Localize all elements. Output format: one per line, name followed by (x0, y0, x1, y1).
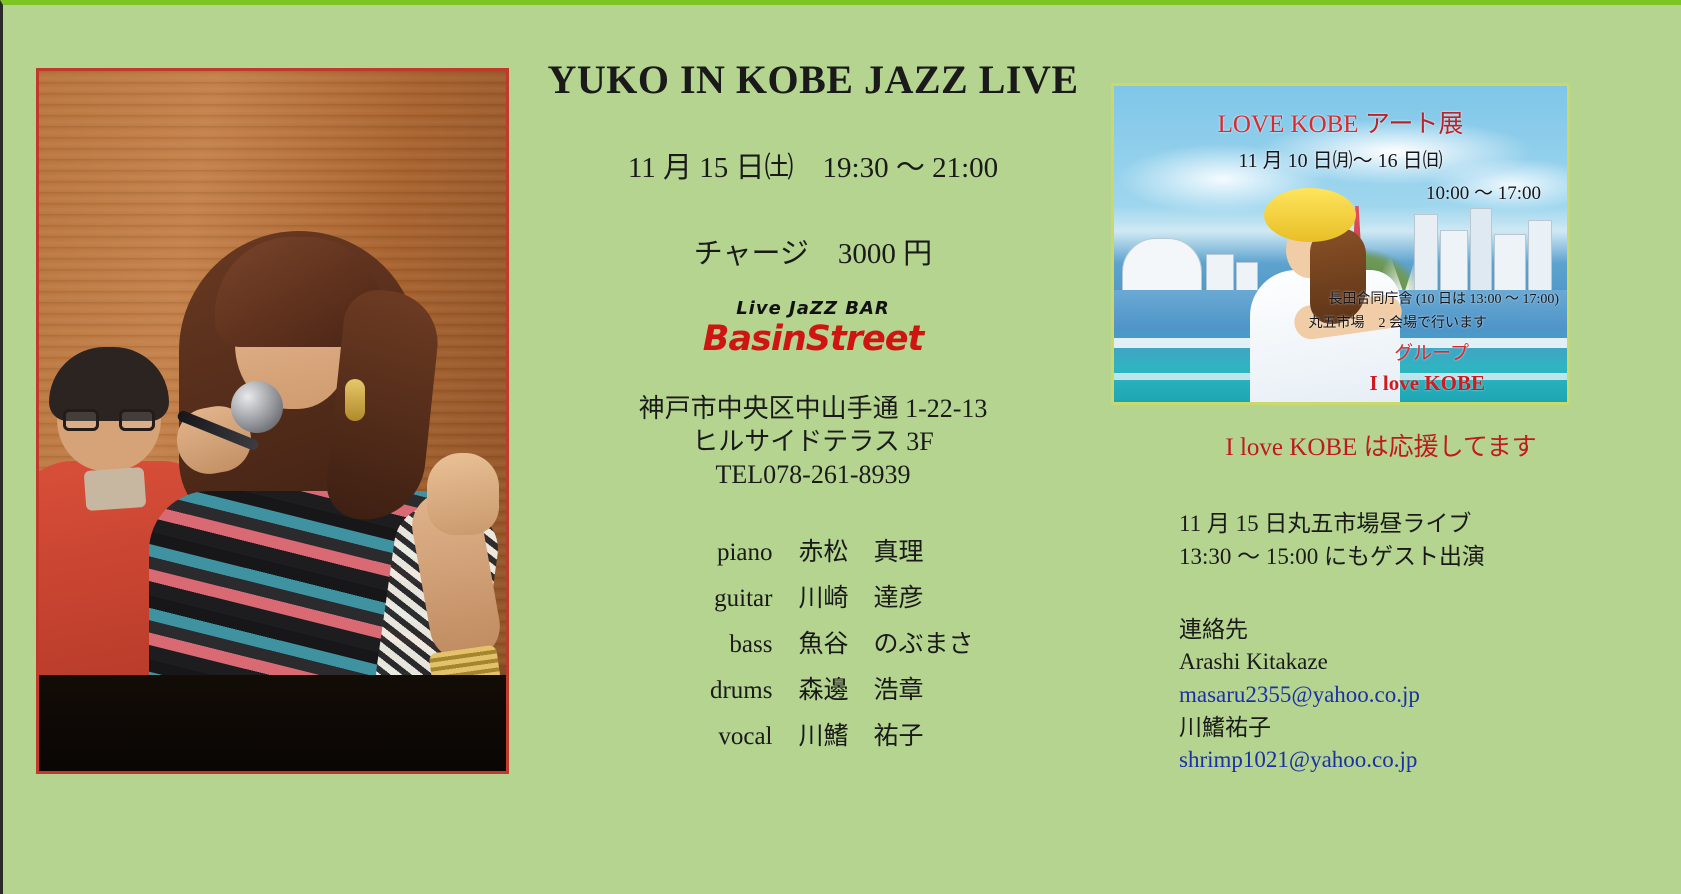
poster-canvas: YUKO IN KOBE JAZZ LIVE 11 月 15 日㈯ 19:30 … (0, 0, 1681, 894)
singer-hand (427, 453, 499, 535)
singer-photo (36, 68, 509, 774)
piano-lid (39, 675, 506, 771)
event-charge: チャージ 3000 円 (523, 230, 1103, 272)
glasses-icon (63, 409, 155, 431)
art-venue-line-2: 丸五市場 2 会場で行います (1309, 312, 1488, 332)
art-group-label: グループ (1394, 338, 1469, 365)
noon-live-line-1: 11 月 15 日丸五市場昼ライブ (1179, 507, 1651, 540)
contact-email-2[interactable]: shrimp1021@yahoo.co.jp (1179, 744, 1651, 777)
art-exhibition-flyer: LOVE KOBE アート展 11 月 10 日㈪〜 16 日㈰ 10:00 〜… (1111, 83, 1570, 405)
member-role: drums (652, 678, 798, 703)
member-name: 赤松 真理 (798, 540, 923, 565)
member-name: 森邊 浩章 (798, 678, 923, 703)
member-role: piano (652, 540, 798, 565)
member-name: 魚谷 のぶまさ (798, 632, 973, 657)
art-title: LOVE KOBE アート展 (1114, 104, 1567, 140)
member-row-piano: piano 赤松 真理 (652, 540, 973, 565)
member-role: vocal (652, 724, 798, 749)
contact-name-2: 川鰭祐子 (1179, 712, 1651, 745)
center-column: YUKO IN KOBE JAZZ LIVE 11 月 15 日㈯ 19:30 … (523, 60, 1103, 770)
art-dates: 11 月 10 日㈪〜 16 日㈰ (1114, 144, 1567, 173)
art-title-en: LOVE KOBE (1218, 111, 1359, 138)
venue-logo-tagline: Live JaZZ BAR (683, 298, 943, 319)
address-phone: TEL078-261-8939 (523, 458, 1103, 491)
member-row-guitar: guitar 川崎 達彦 (652, 586, 973, 611)
art-hours: 10:00 〜 17:00 (1426, 178, 1541, 205)
address-line-2: ヒルサイドテラス 3F (523, 425, 1103, 458)
earring (345, 379, 365, 421)
support-message: I love KOBE は応援してます (1111, 427, 1651, 463)
pianist-collar (84, 467, 147, 511)
yellow-hat (1264, 188, 1356, 242)
member-row-bass: bass 魚谷 のぶまさ (652, 632, 973, 657)
art-title-jp: アート展 (1365, 111, 1464, 138)
contact-label: 連絡先 (1179, 614, 1651, 647)
noon-live-line-2: 13:30 〜 15:00 にもゲスト出演 (1179, 540, 1651, 573)
member-list: piano 赤松 真理 guitar 川崎 達彦 bass 魚谷 のぶまさ dr… (652, 540, 973, 770)
art-venue-line-1: 長田合同庁舎 (10 日は 13:00 〜 17:00) (1328, 288, 1559, 308)
member-row-vocal: vocal 川鰭 祐子 (652, 724, 973, 749)
member-row-drums: drums 森邊 浩章 (652, 678, 973, 703)
venue-address: 神戸市中央区中山手通 1-22-13 ヒルサイドテラス 3F TEL078-26… (523, 392, 1103, 492)
contact-email-1[interactable]: masaru2355@yahoo.co.jp (1179, 679, 1651, 712)
right-column: LOVE KOBE アート展 11 月 10 日㈪〜 16 日㈰ 10:00 〜… (1111, 83, 1651, 777)
contact-block: 連絡先 Arashi Kitakaze masaru2355@yahoo.co.… (1179, 614, 1651, 777)
member-role: guitar (652, 586, 798, 611)
event-datetime: 11 月 15 日㈯ 19:30 〜 21:00 (523, 144, 1103, 186)
noon-live-info: 11 月 15 日丸五市場昼ライブ 13:30 〜 15:00 にもゲスト出演 (1179, 507, 1651, 574)
venue-logo: Live JaZZ BAR BasinStreet (683, 298, 943, 358)
member-name: 川崎 達彦 (798, 586, 923, 611)
member-name: 川鰭 祐子 (798, 724, 923, 749)
contact-name-1: Arashi Kitakaze (1179, 646, 1651, 679)
microphone-icon (199, 381, 283, 465)
page-title: YUKO IN KOBE JAZZ LIVE (523, 60, 1103, 100)
address-line-1: 神戸市中央区中山手通 1-22-13 (523, 392, 1103, 425)
member-role: bass (652, 632, 798, 657)
venue-logo-name: BasinStreet (683, 321, 943, 358)
art-signature: I love KOBE (1369, 371, 1485, 396)
